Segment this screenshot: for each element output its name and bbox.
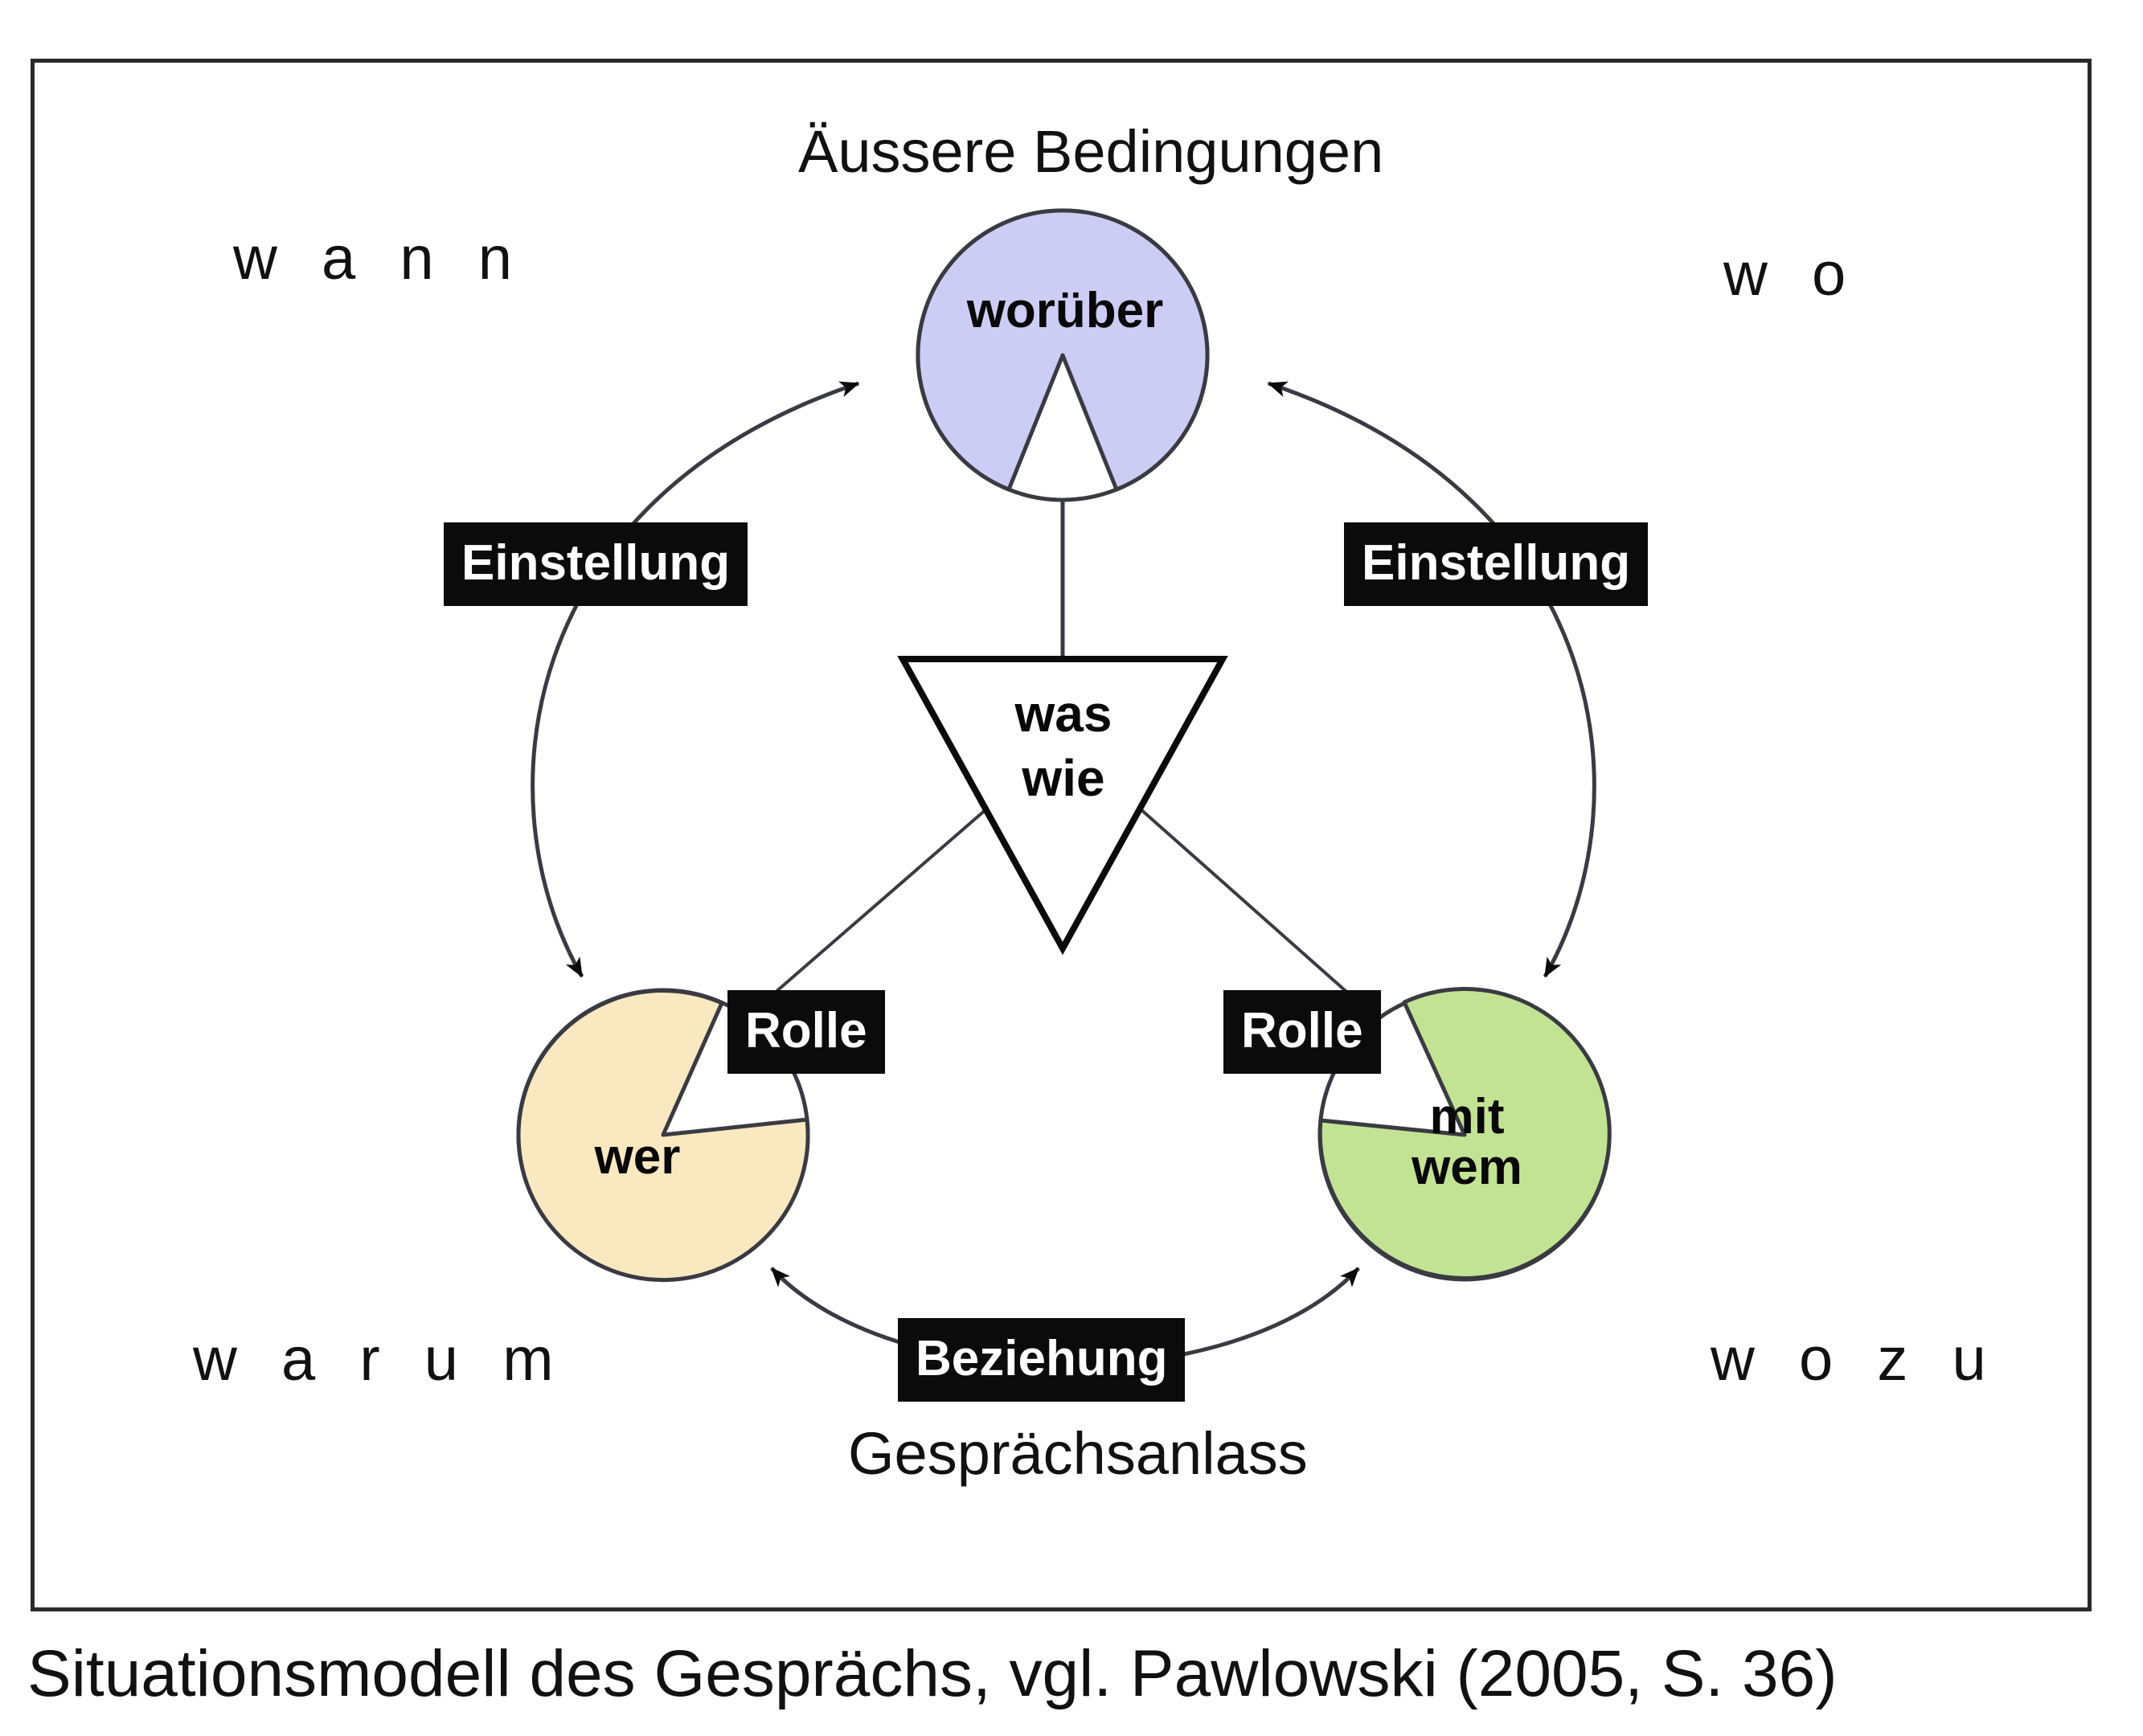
corner-label-warum: w a r u m bbox=[193, 1325, 568, 1394]
node-label-wem: wem bbox=[1334, 1142, 1600, 1193]
corner-label-wozu: w o z u bbox=[1711, 1325, 2000, 1394]
edge-label-beziehung[interactable]: Beziehung bbox=[898, 1318, 1185, 1402]
arc-left-top bbox=[533, 383, 858, 976]
figure-caption: Situationsmodell des Gesprächs, vgl. Paw… bbox=[27, 1636, 1838, 1712]
node-label-wie: wie bbox=[931, 746, 1196, 810]
node-label-woruber: worüber bbox=[908, 285, 1222, 336]
arc-top-right bbox=[1268, 383, 1594, 976]
node-label-waswie: was wie bbox=[931, 682, 1196, 810]
node-label-was: was bbox=[931, 682, 1196, 746]
node-label-mit: mit bbox=[1334, 1091, 1600, 1142]
edge-label-einstellung-right[interactable]: Einstellung bbox=[1344, 522, 1648, 606]
edge-label-rolle-right[interactable]: Rolle bbox=[1223, 990, 1381, 1074]
node-label-wer: wer bbox=[505, 1132, 770, 1182]
corner-label-wann: w a n n bbox=[233, 223, 526, 293]
figure-canvas: Äussere Bedingungen w a n n w o w a r u … bbox=[0, 0, 2143, 1736]
outer-conditions-label: Äussere Bedingungen bbox=[798, 117, 1383, 186]
spoke-center-right bbox=[1140, 809, 1367, 1009]
conversation-occasion-label: Gesprächsanlass bbox=[848, 1419, 1308, 1488]
edge-label-rolle-left[interactable]: Rolle bbox=[727, 990, 885, 1074]
edge-label-einstellung-left[interactable]: Einstellung bbox=[444, 522, 748, 606]
spoke-center-left bbox=[756, 809, 987, 1009]
corner-label-wo: w o bbox=[1723, 240, 1859, 309]
node-label-mitwem: mit wem bbox=[1334, 1091, 1600, 1193]
node-top-woruber[interactable] bbox=[918, 211, 1207, 500]
